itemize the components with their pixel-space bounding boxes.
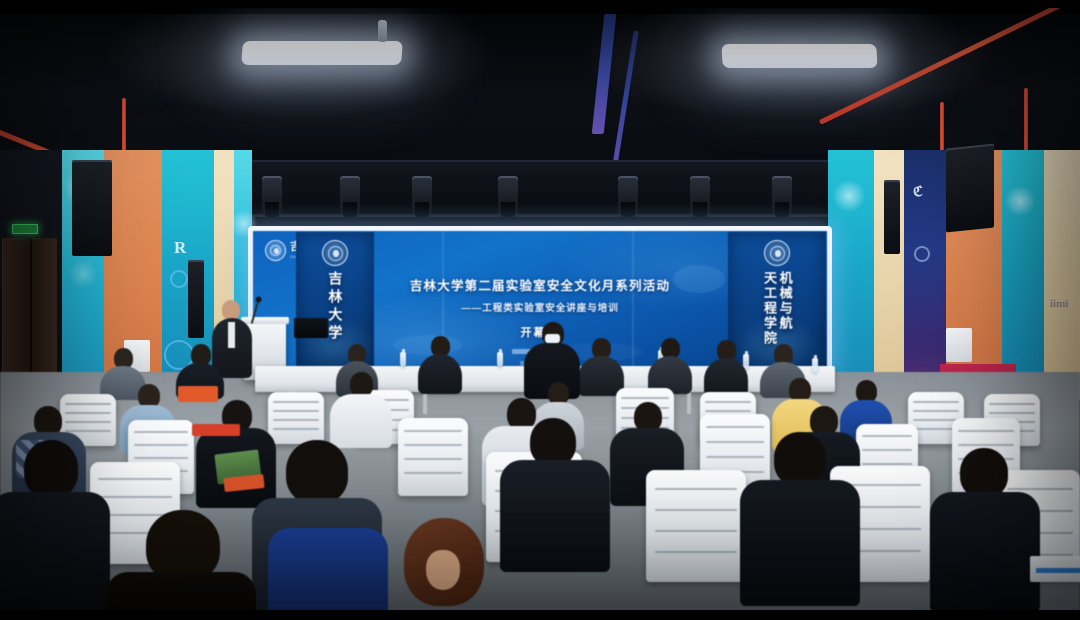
presenter-head [222, 300, 240, 320]
letterbox-bottom [0, 610, 1080, 620]
exit-sign-icon [12, 224, 38, 234]
ceiling-light-panel [241, 41, 403, 65]
attendee-foreground [0, 440, 110, 620]
attendee-head [960, 448, 1008, 498]
lighting-truss [150, 160, 940, 232]
stage-light-fixture [772, 176, 792, 216]
banner-right-text-col1: 机械与航 [778, 271, 792, 346]
hall-door [2, 238, 58, 388]
ceiling [0, 0, 1080, 165]
attendee [648, 338, 692, 390]
pa-speaker [946, 143, 994, 232]
attendee [578, 338, 624, 394]
chair [646, 470, 746, 582]
attendee [930, 448, 1040, 608]
attendee-head [24, 440, 78, 498]
ceiling-light-panel [721, 44, 877, 68]
stage-light-fixture [618, 176, 638, 216]
face-mask [545, 334, 560, 343]
banner-left-text: 吉林大学 [328, 271, 343, 343]
pa-speaker [72, 160, 112, 256]
ceiling-blue-beam [610, 31, 638, 180]
stage-light-fixture [412, 176, 432, 216]
attendee-head [286, 440, 348, 504]
ceiling-hanger [378, 20, 387, 42]
attendee-foreground-woman [378, 518, 510, 620]
wall-panel-teal [1002, 150, 1044, 400]
jlu-emblem-icon [265, 240, 286, 261]
red-logo-prop [192, 424, 240, 436]
attendee-foreground [106, 510, 256, 620]
pa-speaker [188, 260, 204, 338]
water-bottle [497, 352, 503, 367]
attendee-body [704, 358, 748, 396]
wall-panel-teal [828, 150, 874, 400]
water-bottle [812, 358, 818, 373]
wall-decal: ℭ [913, 184, 923, 201]
door-split [30, 238, 32, 388]
attendee-body [740, 480, 860, 606]
banner-right-text-col2: 天工程学院 [762, 271, 776, 346]
right-wall: ℭ iimi [828, 150, 1080, 400]
wall-white-box [946, 328, 972, 362]
attendee-head [530, 418, 576, 466]
attendee-body [418, 354, 462, 394]
stage-light-fixture [690, 176, 710, 216]
attendee-body [578, 356, 624, 396]
attendee [704, 340, 748, 392]
attendee-body [0, 492, 110, 620]
stage-light-fixture [498, 176, 518, 216]
stage-light-fixture [262, 176, 282, 216]
water-bottle [400, 352, 406, 367]
wall-glow [832, 180, 866, 212]
letterbox-top [0, 0, 1080, 8]
attendee-face [426, 550, 460, 590]
jlu-emblem-icon [764, 240, 790, 266]
wall-panel-cream: iimi [1044, 150, 1080, 400]
attendee [330, 372, 392, 446]
conference-hall-photo: R ℭ iimi [0, 0, 1080, 620]
chair [268, 392, 324, 444]
attendee-body [500, 460, 610, 572]
wall-glow [68, 260, 98, 288]
attendee [500, 418, 610, 568]
wall-decal: iimi [1050, 298, 1068, 310]
banner-right-columns: 天工程学院 机械与航 [762, 271, 791, 346]
wall-panel-navy: ℭ [904, 150, 946, 400]
paper-accent [1036, 568, 1080, 573]
attendee-body [930, 492, 1040, 612]
confidence-monitor [294, 318, 328, 338]
stage-light-fixture [340, 176, 360, 216]
attendee-body [268, 528, 388, 620]
wall-letter-decal: R [174, 238, 186, 258]
table-leg [423, 392, 427, 414]
table-leg [687, 392, 691, 414]
attendee-head [774, 432, 826, 486]
wall-ring-decal [170, 270, 188, 288]
pa-speaker [884, 180, 900, 254]
presenter-shirt [228, 322, 235, 348]
attendee [740, 432, 860, 602]
attendee-foreground [268, 500, 388, 620]
attendee [418, 336, 462, 392]
chair [398, 418, 468, 496]
wall-glow [1004, 186, 1036, 216]
wall-ring-decal [914, 246, 930, 262]
ceiling-blue-beam [592, 14, 617, 134]
jlu-emblem-icon [322, 240, 348, 266]
